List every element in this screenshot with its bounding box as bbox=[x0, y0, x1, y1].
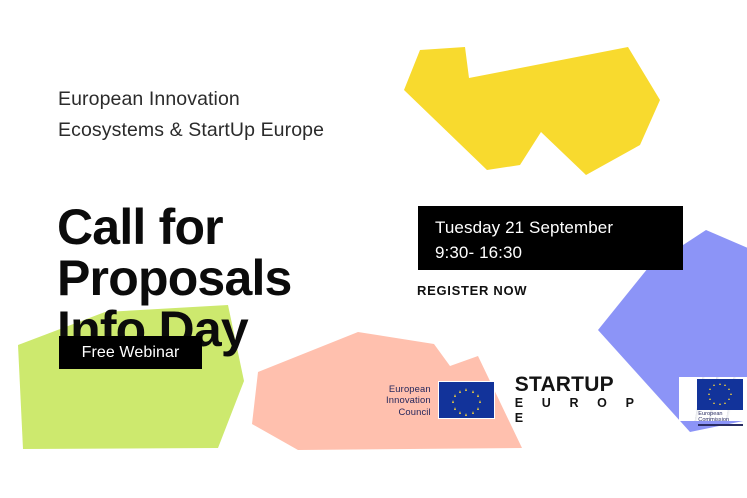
startup-europe-logo: STARTUP E U R O P E bbox=[515, 374, 656, 426]
eyebrow-text: European Innovation Ecosystems & StartUp… bbox=[58, 84, 324, 146]
startup-europe-line1: STARTUP bbox=[515, 374, 656, 396]
eu-flag-icon bbox=[438, 381, 495, 419]
ec-logo-text: European Commission bbox=[698, 411, 729, 424]
event-date-box: Tuesday 21 September 9:30- 16:30 bbox=[418, 206, 683, 270]
european-commission-logo: European Commission bbox=[679, 373, 747, 427]
free-webinar-label: Free Webinar bbox=[82, 344, 180, 362]
register-now-button[interactable]: REGISTER NOW bbox=[417, 283, 527, 298]
free-webinar-badge: Free Webinar bbox=[59, 336, 202, 369]
poster-canvas: European Innovation Ecosystems & StartUp… bbox=[0, 0, 747, 498]
ec-eu-flag-icon bbox=[697, 379, 743, 410]
european-innovation-council-logo: European Innovation Council bbox=[386, 378, 495, 422]
startup-europe-line2: E U R O P E bbox=[515, 396, 656, 426]
yellow-angular-shape bbox=[404, 47, 660, 175]
event-date: Tuesday 21 September bbox=[435, 215, 683, 240]
page-title: Call for Proposals Info Day bbox=[57, 202, 292, 355]
event-time: 9:30- 16:30 bbox=[435, 240, 683, 265]
ec-logo-rule bbox=[698, 424, 743, 426]
eic-logo-text: European Innovation Council bbox=[386, 383, 438, 418]
logo-strip: European Innovation Council STARTUP E U … bbox=[386, 375, 747, 425]
